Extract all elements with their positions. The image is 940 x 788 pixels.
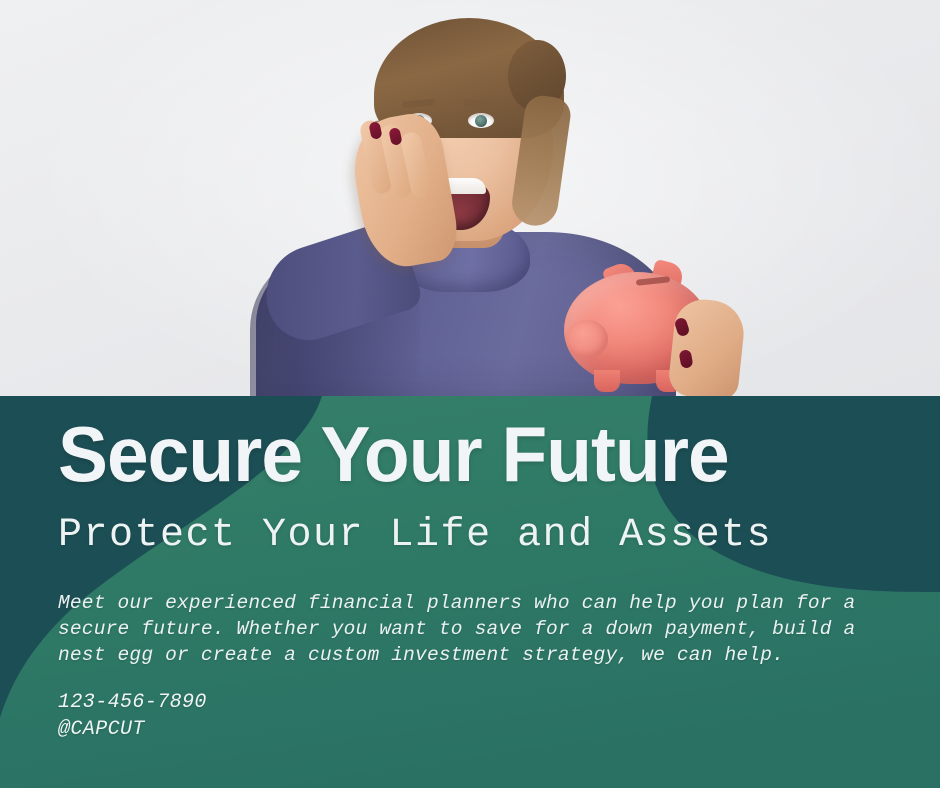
body-paragraph: Meet our experienced financial planners … (58, 590, 888, 668)
piggy-leg (594, 370, 620, 392)
poster: Secure Your Future Protect Your Life and… (0, 0, 940, 788)
hand-holding-piggy-bank (667, 297, 747, 396)
phone-number[interactable]: 123-456-7890 (58, 689, 207, 716)
contact-block: 123-456-7890 @CAPCUT (58, 689, 207, 743)
social-handle[interactable]: @CAPCUT (58, 716, 207, 743)
hero-photo (0, 0, 940, 396)
subtitle: Protect Your Life and Assets (58, 512, 772, 560)
page-title: Secure Your Future (58, 410, 729, 498)
iris-right (475, 115, 487, 127)
text-panel: Secure Your Future Protect Your Life and… (0, 396, 940, 788)
panel-content: Secure Your Future Protect Your Life and… (0, 396, 940, 788)
piggy-snout (566, 320, 608, 358)
